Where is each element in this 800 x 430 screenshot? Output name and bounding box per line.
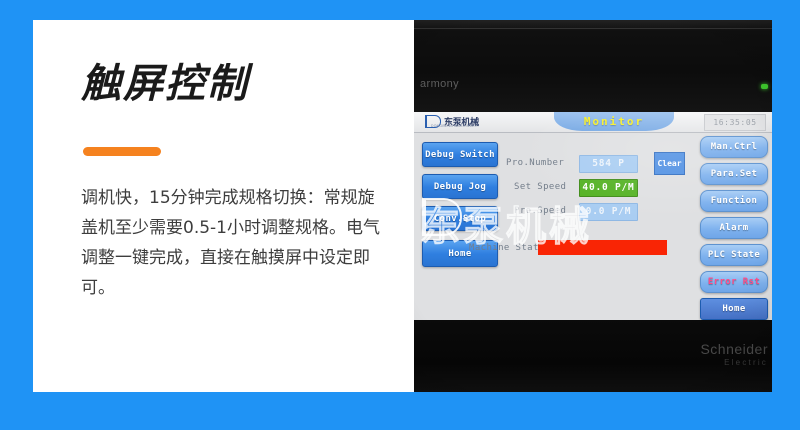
set-speed-value[interactable]: 40.0 P/M [579, 179, 638, 197]
pro-number-value[interactable]: 584 P [579, 155, 638, 173]
pro-speed-label: Pro.Speed [514, 206, 566, 216]
accent-bar [83, 147, 161, 156]
clear-button[interactable]: Clear [654, 152, 685, 175]
clock-display: 16:35:05 [704, 114, 766, 131]
page-title: 触屏控制 [81, 60, 249, 108]
harmony-brand-label: armony [420, 78, 459, 90]
alarm-button[interactable]: Alarm [700, 217, 768, 239]
pro-number-label: Pro.Number [506, 158, 564, 168]
schneider-brand-label: Schneider [700, 341, 768, 357]
power-led-icon [761, 84, 768, 89]
schneider-sub-label: Electric [700, 359, 768, 367]
manual-control-button[interactable]: Man.Ctrl [700, 136, 768, 158]
panel-bottom-bezel: Schneider Electric [414, 320, 772, 392]
parameter-set-button[interactable]: Para.Set [700, 163, 768, 185]
plc-state-button[interactable]: PLC State [700, 244, 768, 266]
panel-top-bezel: armony [414, 20, 772, 112]
debug-jog-button[interactable]: Debug Jog [422, 174, 498, 199]
hmi-header-bar: 东泵机械 DONGBENG MACHINERY Monitor 16:35:05 [414, 112, 772, 133]
schneider-logo: Schneider Electric [700, 342, 768, 367]
hmi-screen: 东泵机械 DONGBENG MACHINERY Monitor 16:35:05… [414, 112, 772, 320]
manufacturer-name-en: DONGBENG MACHINERY [431, 124, 477, 128]
error-reset-button[interactable]: Error Rst [700, 271, 768, 293]
home-button-right[interactable]: Home [700, 298, 768, 320]
pro-speed-value[interactable]: 0.0 P/M [579, 203, 638, 221]
info-card: 触屏控制 调机快，15分钟完成规格切换：常规旋盖机至少需要0.5-1小时调整规格… [33, 20, 414, 392]
machine-state-indicator [538, 240, 667, 255]
screen-title: Monitor [554, 112, 674, 131]
screen-title-pill: Monitor [554, 112, 674, 131]
conveyor-stop-button[interactable]: Conv.Stop [422, 206, 498, 231]
set-speed-label: Set Speed [514, 182, 566, 192]
page-root: 触屏控制 调机快，15分钟完成规格切换：常规旋盖机至少需要0.5-1小时调整规格… [0, 0, 800, 430]
debug-switch-button[interactable]: Debug Switch [422, 142, 498, 167]
function-button[interactable]: Function [700, 190, 768, 212]
card-body-text: 调机快，15分钟完成规格切换：常规旋盖机至少需要0.5-1小时调整规格。电气调整… [81, 183, 381, 303]
machine-state-label: Machine State [469, 243, 545, 253]
hmi-photo: armony 东泵机械 DONGBENG MACHINERY Monitor 1… [414, 20, 772, 392]
